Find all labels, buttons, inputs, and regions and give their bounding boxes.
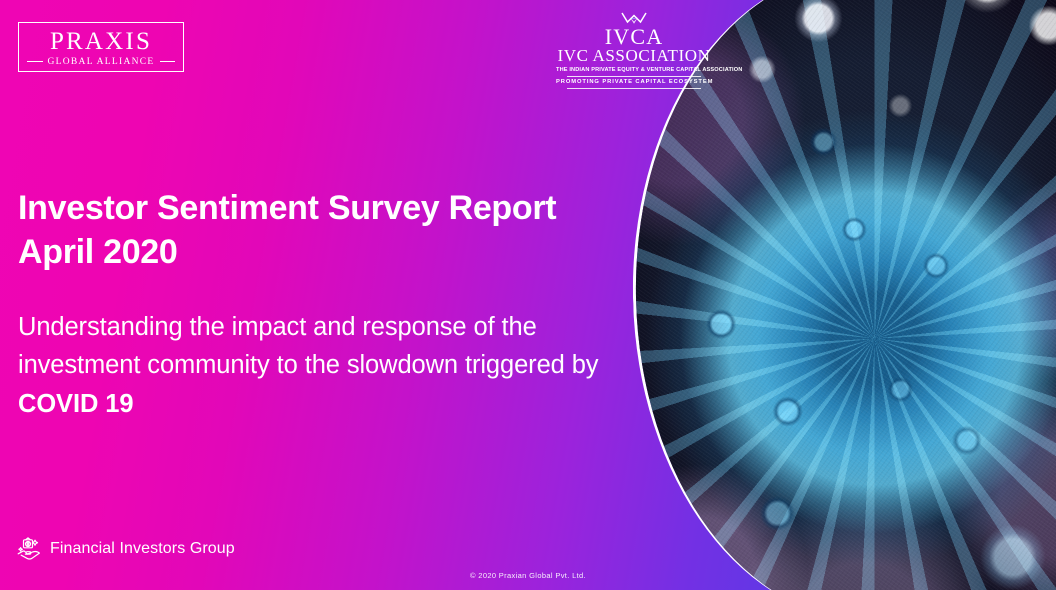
ivca-full-name: THE INDIAN PRIVATE EQUITY & VENTURE CAPI…	[556, 67, 712, 73]
ivca-tagline: PROMOTING PRIVATE CAPITAL ECOSYSTEM	[556, 79, 712, 85]
copyright-notice: © 2020 Praxian Global Pvt. Ltd.	[0, 571, 1056, 580]
ivca-name: IVC ASSOCIATION	[556, 47, 712, 65]
praxis-tagline: GLOBAL ALLIANCE	[48, 57, 155, 67]
page-title-line2: April 2020	[18, 230, 556, 274]
ivca-divider-top	[567, 76, 701, 77]
ivca-acronym: IVCA	[556, 26, 712, 48]
praxis-wordmark: PRAXIS	[50, 29, 152, 54]
praxis-rule-right	[160, 61, 176, 62]
page-title-line1: Investor Sentiment Survey Report	[18, 186, 556, 230]
page-subtitle: Understanding the impact and response of…	[18, 308, 618, 423]
financial-investors-group-label: Financial Investors Group	[50, 540, 235, 558]
title-slide: PRAXIS GLOBAL ALLIANCE IVCA IVC ASSOCIAT…	[0, 0, 1056, 590]
hand-holding-coin-icon	[16, 537, 42, 561]
praxis-global-alliance-logo[interactable]: PRAXIS GLOBAL ALLIANCE	[18, 22, 184, 72]
praxis-rule-left	[27, 61, 43, 62]
financial-investors-group-badge[interactable]: Financial Investors Group	[16, 537, 235, 561]
page-subtitle-emphasis: COVID 19	[18, 390, 133, 418]
page-title: Investor Sentiment Survey Report April 2…	[18, 186, 556, 274]
ivca-logo[interactable]: IVCA IVC ASSOCIATION THE INDIAN PRIVATE …	[556, 12, 712, 89]
page-subtitle-text: Understanding the impact and response of…	[18, 313, 598, 379]
ivca-divider-bottom	[567, 88, 701, 89]
praxis-tagline-row: GLOBAL ALLIANCE	[27, 57, 175, 67]
